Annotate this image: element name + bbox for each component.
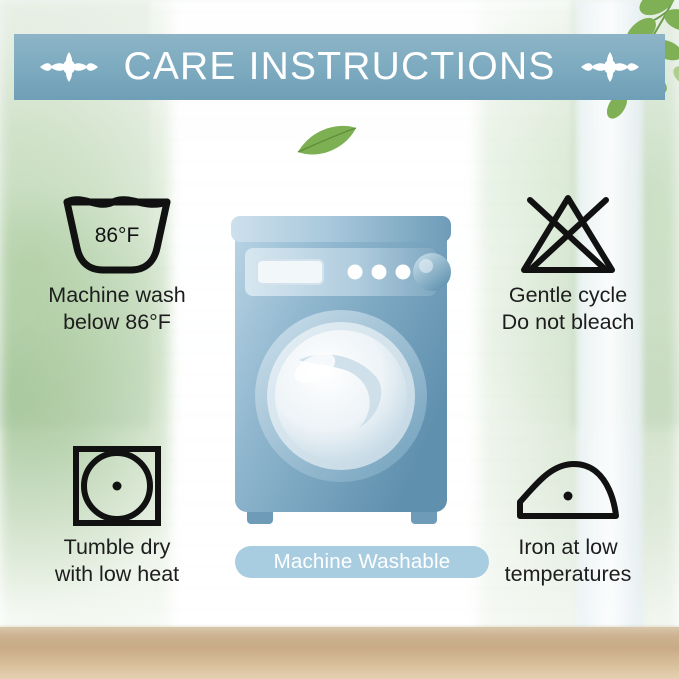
tumble-dry-icon-wrap [61,444,173,528]
care-item-label-gentle-cycle: Gentle cycle Do not bleach [462,282,674,336]
care-item-machine-wash: 86°F Machine wash below 86°F [12,192,222,336]
indicator-light [396,265,411,280]
care-item-gentle-cycle-no-bleach: Gentle cycle Do not bleach [462,192,674,336]
indicator-light [348,265,363,280]
detergent-drawer [257,260,323,284]
fleur-de-lis-icon-left [38,49,100,85]
machine-door-glass [275,330,407,462]
crossed-triangle-no-bleach-icon [518,192,618,276]
iron-icon-wrap [512,444,624,528]
table-surface [0,627,679,679]
badge-label: Machine Washable [274,550,451,574]
wash-tub-icon-wrap: 86°F [61,192,173,276]
fleur-de-lis-icon-right [579,49,641,85]
care-item-iron: Iron at low temperatures [462,444,674,588]
iron-low-temperature-icon [512,444,624,528]
indicator-light [372,265,387,280]
care-item-label-iron: Iron at low temperatures [462,534,674,588]
header-banner: CARE INSTRUCTIONS [14,34,665,100]
floating-leaf-icon [296,122,358,162]
care-item-label-tumble-dry: Tumble dry with low heat [12,534,222,588]
machine-knob [413,253,451,291]
machine-top [231,216,451,242]
wash-temperature-value: 86°F [61,224,173,248]
care-item-tumble-dry: Tumble dry with low heat [12,444,222,588]
tumble-dry-low-heat-icon [68,444,166,528]
washing-machine-icon [229,210,453,540]
machine-washable-badge: Machine Washable [235,546,489,578]
page-title: CARE INSTRUCTIONS [123,45,555,89]
care-instructions-card: CARE INSTRUCTIONS 86°F Machine wash belo… [0,0,679,679]
no-bleach-icon-wrap [512,192,624,276]
care-item-label-machine-wash: Machine wash below 86°F [12,282,222,336]
